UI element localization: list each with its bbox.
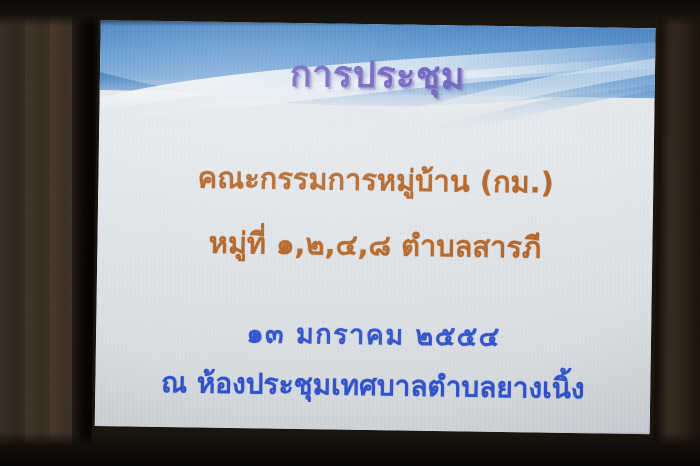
screen-frame-right	[652, 0, 700, 466]
projection-screen-surface: การประชุม คณะกรรมการหมู่บ้าน (กม.) หมู่ท…	[95, 20, 656, 434]
slide-line-organization: คณะกรรมการหมู่บ้าน (กม.)	[98, 153, 654, 207]
slide-text-block: การประชุม คณะกรรมการหมู่บ้าน (กม.) หมู่ท…	[95, 20, 656, 434]
floor-shadow	[0, 432, 700, 466]
slide-line-villages: หมู่ที่ ๑,๒,๔,๘ ตำบลสารภี	[97, 218, 653, 272]
slide-line-date: ๑๓ มกราคม ๒๕๕๔	[96, 309, 652, 360]
slide-title: การประชุม	[100, 42, 656, 107]
ceiling-shadow	[0, 0, 700, 26]
projection-screen: การประชุม คณะกรรมการหมู่บ้าน (กม.) หมู่ท…	[91, 2, 660, 456]
slide-line-venue: ณ ห้องประชุมเทศบาลตำบลยางเนิ้ง	[95, 360, 651, 412]
photograph-of-meeting-slide: การประชุม คณะกรรมการหมู่บ้าน (กม.) หมู่ท…	[0, 0, 700, 466]
powerpoint-slide: การประชุม คณะกรรมการหมู่บ้าน (กม.) หมู่ท…	[95, 20, 656, 434]
